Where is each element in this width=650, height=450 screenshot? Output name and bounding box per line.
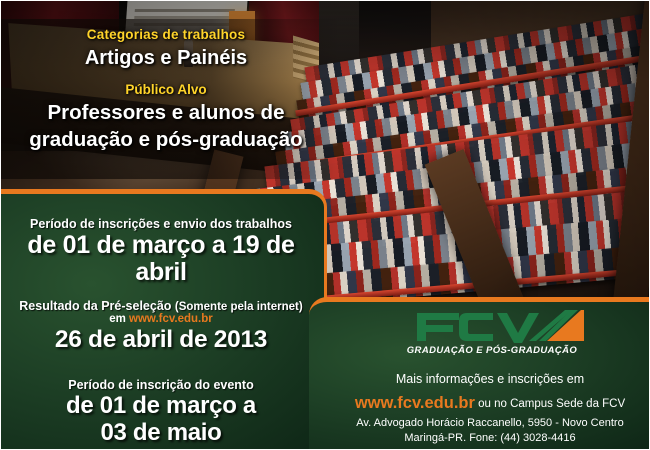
contact-address: Av. Advogado Horácio Raccanello, 5950 - … [331, 416, 649, 431]
fcv-logo: GRADUAÇÃO E PÓS-GRADUAÇÃO [397, 307, 587, 359]
fcv-logo-mark [397, 307, 587, 347]
event-registration-label: Período de inscrição do evento [3, 378, 319, 392]
submission-period-date: de 01 de março a 19 de abril [3, 232, 319, 286]
event-registration-block: Período de inscrição do evento de 01 de … [3, 378, 319, 446]
event-registration-date-line1: de 01 de março a [3, 393, 319, 419]
contact-line-info: Mais informações e inscrições em [331, 371, 649, 388]
preselection-result-block: Resultado da Pré-seleção (Somente pela i… [3, 299, 319, 353]
preselection-em-label: em [109, 313, 126, 325]
header-headline-categories: Artigos e Painéis [1, 46, 331, 70]
header-kicker-categories: Categorias de trabalhos [1, 27, 331, 44]
preselection-result-label: Resultado da Pré-seleção [19, 299, 171, 313]
contact-website-link[interactable]: www.fcv.edu.br [355, 394, 475, 412]
preselection-result-date: 26 de abril de 2013 [3, 327, 319, 353]
preselection-result-note: (Somente pela internet) [175, 301, 303, 313]
poster-header: Categorias de trabalhos Artigos e Painéi… [1, 27, 331, 153]
submission-period-block: Período de inscrições e envio dos trabal… [3, 217, 319, 286]
contact-campus-text: ou no Campus Sede da FCV [475, 398, 625, 410]
event-registration-date-line2: 03 de maio [3, 420, 319, 446]
header-headline-audience-line2: graduação e pós-graduação [1, 126, 331, 153]
preselection-website-link[interactable]: www.fcv.edu.br [129, 313, 213, 325]
header-headline-audience-line1: Professores e alunos de [1, 99, 331, 126]
contact-city-phone: Maringá-PR. Fone: (44) 3028-4416 [331, 431, 649, 446]
fcv-logo-tagline: GRADUAÇÃO E PÓS-GRADUAÇÃO [397, 345, 587, 356]
contact-info: Mais informações e inscrições em www.fcv… [331, 371, 649, 446]
header-kicker-audience: Público Alvo [1, 82, 331, 97]
submission-period-label: Período de inscrições e envio dos trabal… [3, 217, 319, 231]
event-poster: Categorias de trabalhos Artigos e Painéi… [0, 0, 650, 450]
